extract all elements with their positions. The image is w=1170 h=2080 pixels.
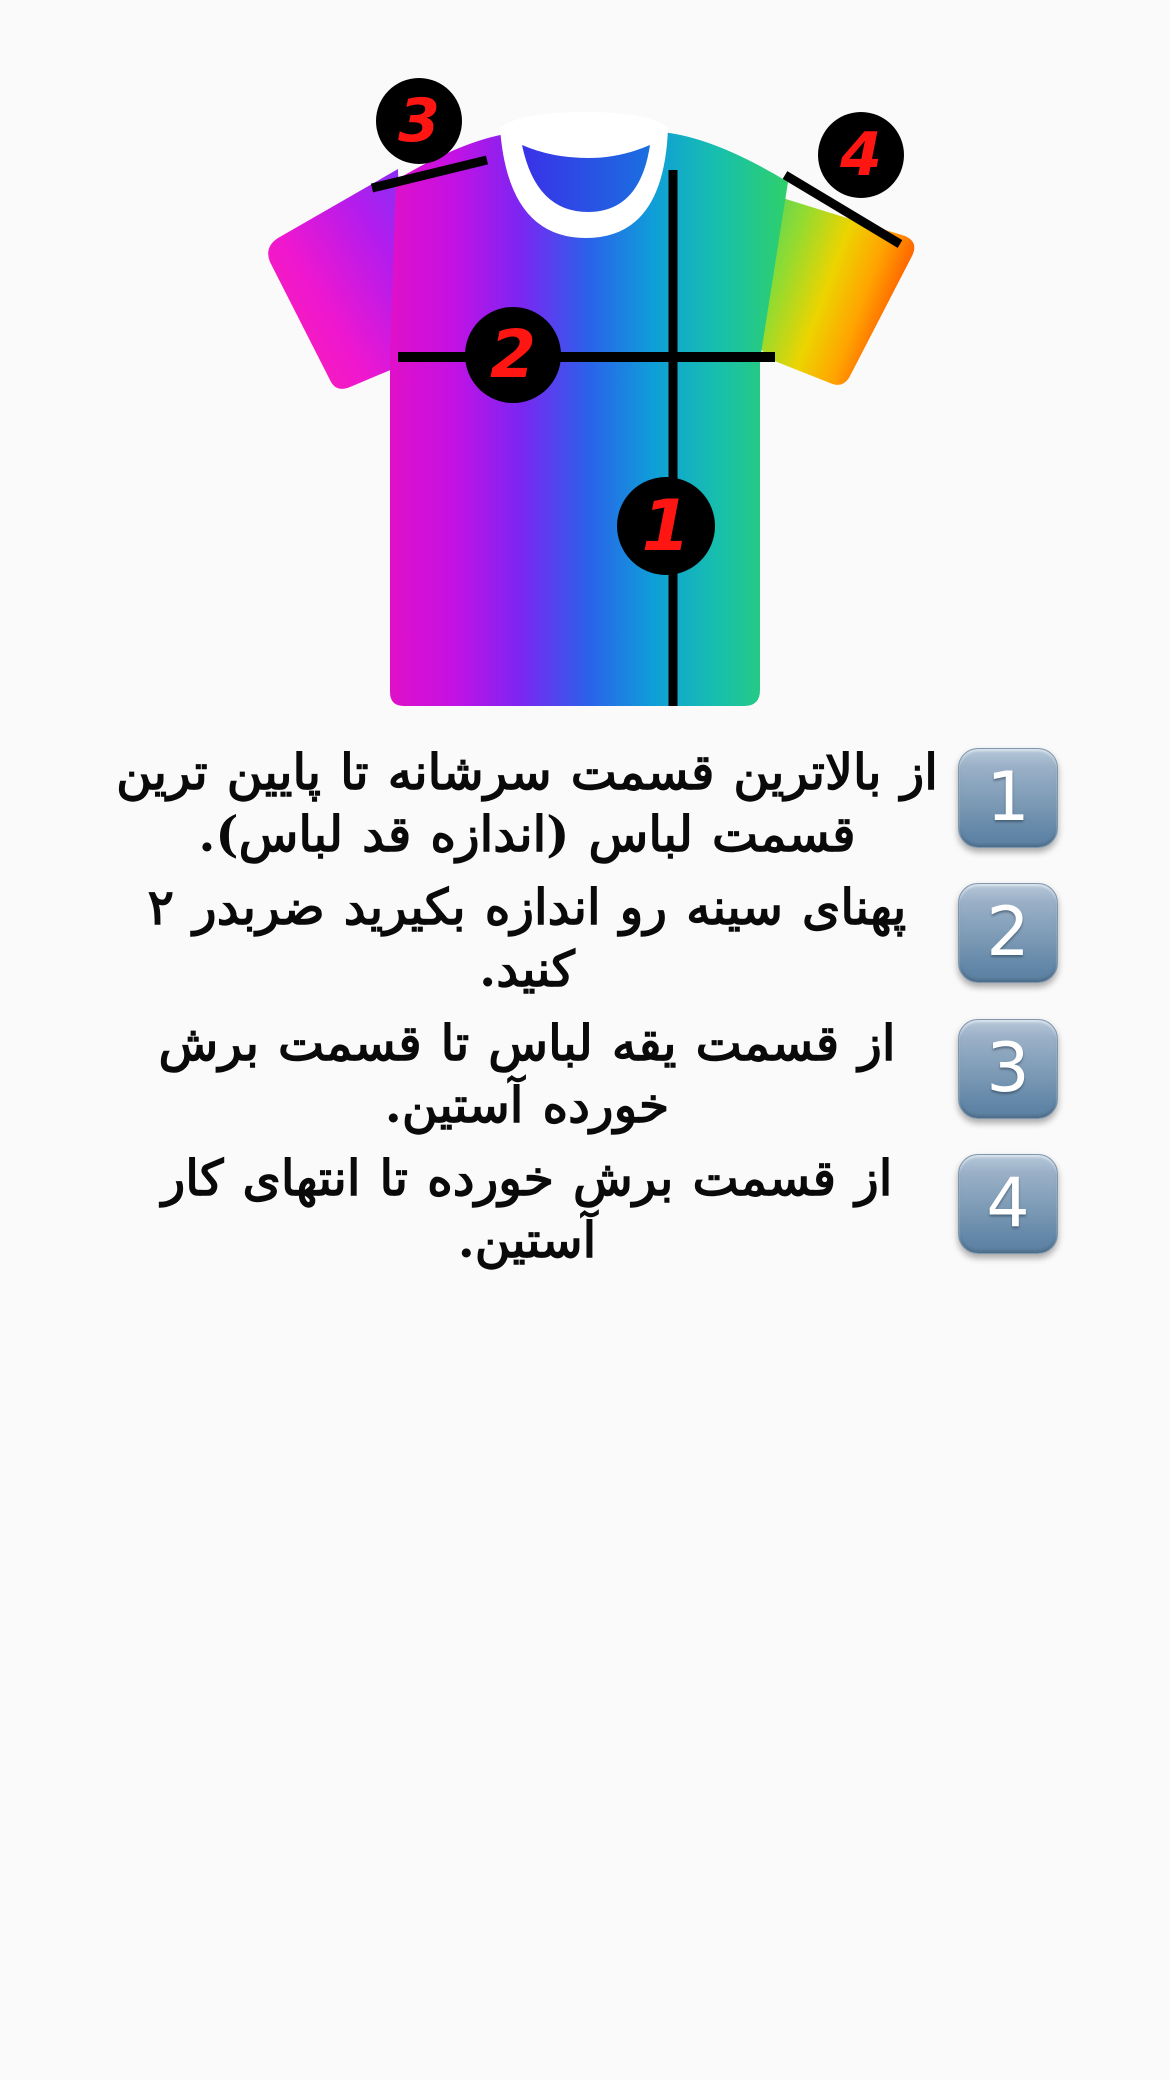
marker-3: 3 <box>376 78 462 164</box>
marker-1: 1 <box>617 477 715 575</box>
instruction-item-1: 1 از بالاترین قسمت سرشانه تا پایین ترین … <box>0 740 1170 865</box>
instruction-text-2: پهنای سینه رو اندازه بکیرید ضربدر ۲ کنید… <box>110 875 944 1000</box>
keycap-4-icon: 4 <box>958 1154 1058 1254</box>
left-sleeve <box>268 169 400 389</box>
instruction-item-2: 2 پهنای سینه رو اندازه بکیرید ضربدر ۲ کن… <box>0 875 1170 1000</box>
marker-2: 2 <box>465 307 561 403</box>
marker-4: 4 <box>818 112 904 198</box>
instruction-item-4: 4 از قسمت برش خورده تا انتهای کار آستین. <box>0 1146 1170 1271</box>
keycap-1-icon: 1 <box>958 748 1058 848</box>
instruction-text-1: از بالاترین قسمت سرشانه تا پایین ترین قس… <box>110 740 944 865</box>
instruction-text-3: از قسمت یقه لباس تا قسمت برش خورده آستین… <box>110 1011 944 1136</box>
instruction-item-3: 3 از قسمت یقه لباس تا قسمت برش خورده آست… <box>0 1011 1170 1136</box>
tshirt-graphic <box>0 0 1170 730</box>
keycap-2-icon: 2 <box>958 883 1058 983</box>
instruction-text-4: از قسمت برش خورده تا انتهای کار آستین. <box>110 1146 944 1271</box>
keycap-3-icon: 3 <box>958 1019 1058 1119</box>
instruction-list: 1 از بالاترین قسمت سرشانه تا پایین ترین … <box>0 740 1170 1282</box>
tshirt-illustration: 1 2 3 4 <box>0 0 1170 730</box>
